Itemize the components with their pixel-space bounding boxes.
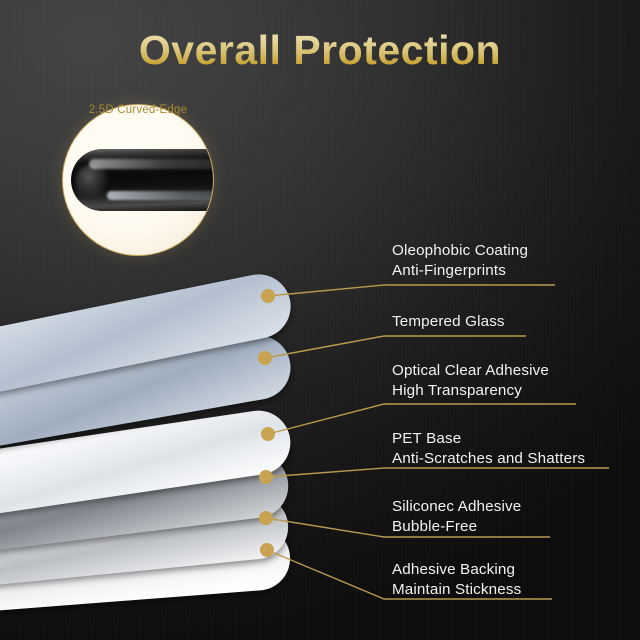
callout-subtitle-1: Anti-Fingerprints <box>392 261 528 281</box>
connector-dot-5 <box>259 511 273 525</box>
connector-dot-4 <box>259 470 273 484</box>
callout-title-5: Siliconec Adhesive <box>392 498 521 515</box>
callout-subtitle-6: Maintain Stickness <box>392 580 521 600</box>
connector-dot-1 <box>261 289 275 303</box>
connector-dot-3 <box>261 427 275 441</box>
connector-dot-2 <box>258 351 272 365</box>
callout-title-1: Oleophobic Coating <box>392 242 528 259</box>
callout-title-4: PET Base <box>392 430 461 447</box>
callout-subtitle-3: High Transparency <box>392 381 549 401</box>
callout-title-3: Optical Clear Adhesive <box>392 362 549 379</box>
connector-line-2 <box>265 336 526 358</box>
callout-label-5: Siliconec AdhesiveBubble-Free <box>392 497 521 537</box>
connector-line-4 <box>266 468 609 477</box>
callout-title-6: Adhesive Backing <box>392 561 515 578</box>
callout-connectors <box>0 0 640 640</box>
callout-label-1: Oleophobic CoatingAnti-Fingerprints <box>392 241 528 281</box>
connector-line-1 <box>268 285 555 296</box>
callout-label-2: Tempered Glass <box>392 312 505 332</box>
callout-title-2: Tempered Glass <box>392 313 505 330</box>
callout-label-4: PET BaseAnti-Scratches and Shatters <box>392 429 585 469</box>
callout-label-6: Adhesive BackingMaintain Stickness <box>392 560 521 600</box>
product-infographic: Overall Protection 2.5D Curved-Edge Oleo… <box>0 0 640 640</box>
connector-dot-6 <box>260 543 274 557</box>
callout-subtitle-4: Anti-Scratches and Shatters <box>392 449 585 469</box>
callout-label-3: Optical Clear AdhesiveHigh Transparency <box>392 361 549 401</box>
callout-subtitle-5: Bubble-Free <box>392 517 521 537</box>
